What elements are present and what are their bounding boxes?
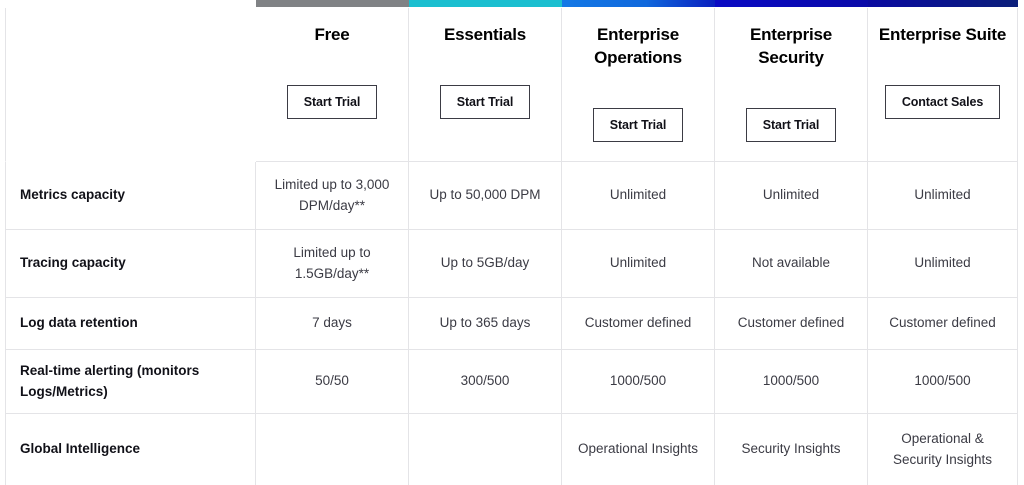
plan-header-enterprise-security: Enterprise Security Start Trial xyxy=(715,8,868,162)
cell-metrics-capacity-enterprise-security: Unlimited xyxy=(715,162,868,230)
cell-global-intelligence-enterprise-security: Security Insights xyxy=(715,414,868,485)
plan-cta-wrap-free: Start Trial xyxy=(287,85,378,119)
cell-tracing-capacity-enterprise-operations: Unlimited xyxy=(562,230,715,298)
plan-accent-bars xyxy=(256,0,1018,7)
plan-name-enterprise-suite: Enterprise Suite xyxy=(879,24,1006,47)
cell-real-time-alerting-essentials: 300/500 xyxy=(409,350,562,414)
row-label-tracing-capacity: Tracing capacity xyxy=(5,230,256,298)
accent-bar-enterprise-operations xyxy=(562,0,715,7)
cell-metrics-capacity-free: Limited up to 3,000 DPM/day** xyxy=(256,162,409,230)
plan-header-enterprise-suite: Enterprise Suite Contact Sales xyxy=(868,8,1018,162)
cell-global-intelligence-free xyxy=(256,414,409,485)
accent-bar-essentials xyxy=(409,0,562,7)
cell-real-time-alerting-free: 50/50 xyxy=(256,350,409,414)
row-label-real-time-alerting: Real-time alerting (monitors Logs/Metric… xyxy=(5,350,256,414)
cell-global-intelligence-enterprise-suite: Operational & Security Insights xyxy=(868,414,1018,485)
row-label-metrics-capacity: Metrics capacity xyxy=(5,162,256,230)
plan-cta-wrap-enterprise-suite: Contact Sales xyxy=(885,85,1000,119)
plan-name-essentials: Essentials xyxy=(444,24,526,47)
cell-global-intelligence-essentials xyxy=(409,414,562,485)
cell-real-time-alerting-enterprise-operations: 1000/500 xyxy=(562,350,715,414)
cell-global-intelligence-enterprise-operations: Operational Insights xyxy=(562,414,715,485)
accent-bar-enterprise-security xyxy=(715,0,868,7)
accent-bar-free xyxy=(256,0,409,7)
plan-header-free: Free Start Trial xyxy=(256,8,409,162)
start-trial-button-enterprise-operations[interactable]: Start Trial xyxy=(593,108,684,142)
cell-tracing-capacity-enterprise-suite: Unlimited xyxy=(868,230,1018,298)
cell-metrics-capacity-enterprise-operations: Unlimited xyxy=(562,162,715,230)
cell-tracing-capacity-enterprise-security: Not available xyxy=(715,230,868,298)
cell-log-data-retention-free: 7 days xyxy=(256,298,409,350)
row-label-log-data-retention: Log data retention xyxy=(5,298,256,350)
cell-log-data-retention-enterprise-suite: Customer defined xyxy=(868,298,1018,350)
cell-tracing-capacity-essentials: Up to 5GB/day xyxy=(409,230,562,298)
plan-name-free: Free xyxy=(314,24,349,47)
cell-log-data-retention-enterprise-operations: Customer defined xyxy=(562,298,715,350)
contact-sales-button-enterprise-suite[interactable]: Contact Sales xyxy=(885,85,1000,119)
accent-bar-enterprise-suite xyxy=(868,0,1018,7)
plan-header-essentials: Essentials Start Trial xyxy=(409,8,562,162)
plan-cta-wrap-enterprise-security: Start Trial xyxy=(746,108,837,142)
plan-name-enterprise-operations: Enterprise Operations xyxy=(562,24,714,70)
pricing-comparison-table: Free Start Trial Essentials Start Trial … xyxy=(0,0,1024,477)
comparison-grid: Free Start Trial Essentials Start Trial … xyxy=(5,8,1018,473)
plan-cta-wrap-essentials: Start Trial xyxy=(440,85,531,119)
start-trial-button-enterprise-security[interactable]: Start Trial xyxy=(746,108,837,142)
cell-log-data-retention-essentials: Up to 365 days xyxy=(409,298,562,350)
plan-header-enterprise-operations: Enterprise Operations Start Trial xyxy=(562,8,715,162)
cell-metrics-capacity-essentials: Up to 50,000 DPM xyxy=(409,162,562,230)
start-trial-button-essentials[interactable]: Start Trial xyxy=(440,85,531,119)
cell-real-time-alerting-enterprise-security: 1000/500 xyxy=(715,350,868,414)
cell-metrics-capacity-enterprise-suite: Unlimited xyxy=(868,162,1018,230)
cell-log-data-retention-enterprise-security: Customer defined xyxy=(715,298,868,350)
plan-cta-wrap-enterprise-operations: Start Trial xyxy=(593,108,684,142)
row-label-global-intelligence: Global Intelligence xyxy=(5,414,256,485)
start-trial-button-free[interactable]: Start Trial xyxy=(287,85,378,119)
cell-real-time-alerting-enterprise-suite: 1000/500 xyxy=(868,350,1018,414)
table-corner-cell xyxy=(5,8,256,162)
cell-tracing-capacity-free: Limited up to 1.5GB/day** xyxy=(256,230,409,298)
plan-name-enterprise-security: Enterprise Security xyxy=(715,24,867,70)
